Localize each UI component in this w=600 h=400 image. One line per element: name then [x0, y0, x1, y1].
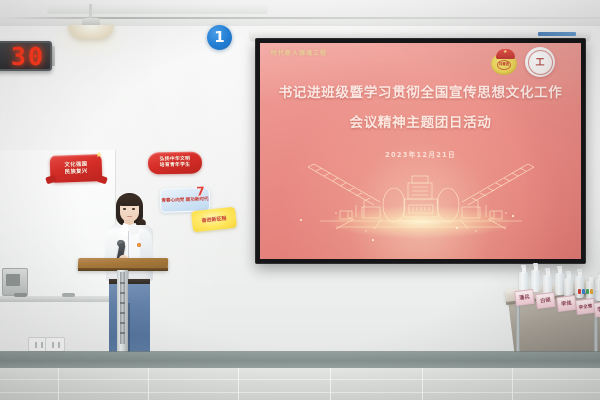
- annotation-badge-1[interactable]: 1: [207, 25, 232, 50]
- decal-anniversary-number: 7: [196, 184, 205, 198]
- water-bottle: [555, 273, 564, 295]
- name-card-text: 李佳: [561, 300, 572, 307]
- projection-screen-frame: 时代新人铸魂工程 ★ 共青团 工 书记进班级暨学习贯彻全国宣传思想文化工作 会议…: [255, 38, 586, 264]
- youth-league-emblem-icon: ★ 共青团: [491, 47, 519, 75]
- slide-date: 2023年12月21日: [260, 149, 581, 159]
- annotation-badge-number: 1: [214, 30, 224, 45]
- housing-brand-label: [538, 32, 576, 36]
- presenter-eye-right: [132, 208, 135, 210]
- water-bottle: [575, 276, 584, 298]
- projection-screen-surface: 时代新人铸魂工程 ★ 共青团 工 书记进班级暨学习贯彻全国宣传思想文化工作 会议…: [260, 43, 581, 259]
- slide-title-block: 书记进班级暨学习贯彻全国宣传思想文化工作 会议精神主题团日活动: [260, 83, 581, 133]
- screen-brand-text: 时代新人铸魂工程: [271, 48, 327, 57]
- whiteboard-marker: [14, 293, 27, 297]
- name-card: 白硕: [535, 292, 556, 309]
- whiteboard-wall-box-inner: [6, 274, 20, 286]
- slide-title-line-1: 书记进班级暨学习贯彻全国宣传思想文化工作: [260, 83, 581, 103]
- name-card: 李佳: [556, 295, 577, 312]
- name-card-text: 潘兵: [519, 294, 530, 301]
- slide-cityscape-artwork: [296, 161, 546, 241]
- name-card-text: 白硕: [540, 297, 551, 304]
- decal-youth-slogan-text: 弘扬中华文明 培育青年学生: [160, 157, 191, 169]
- classroom-photo-scene: 30 文化强国 民族复兴 ★ 弘扬中华文明 培育青年学生 青春心向党 建功新时代…: [0, 0, 600, 400]
- ceiling-beam: [47, 5, 269, 14]
- name-card: 李: [593, 301, 600, 317]
- emblem-right-text: 工: [533, 55, 547, 69]
- presenter-badge-pin: [137, 243, 141, 247]
- baseboard: [0, 352, 600, 368]
- decal-burst-text: 奋进新征程: [201, 215, 227, 224]
- water-bottle: [595, 279, 600, 301]
- whiteboard-marker: [62, 293, 75, 297]
- ceiling-lamp: [68, 20, 114, 38]
- wall-outlet: [45, 337, 65, 352]
- pen-group: [578, 289, 594, 294]
- name-card: 潘兵: [514, 289, 535, 306]
- presenter-hair-front: [118, 195, 141, 206]
- presenter-belt: [109, 279, 150, 284]
- university-seal-icon: 工: [525, 47, 555, 77]
- decal-culture-power-text: 文化强国 民族复兴: [64, 162, 87, 176]
- decal-culture-power: 文化强国 民族复兴 ★: [50, 154, 103, 183]
- floor: [0, 368, 600, 400]
- artwork-glow: [326, 205, 516, 239]
- clock-digits: 30: [11, 44, 45, 69]
- presenter-shirt-placket: [128, 231, 129, 279]
- lamp-shade: [68, 25, 114, 39]
- presenter-eye-left: [123, 208, 126, 210]
- decal-star-icon: ★: [95, 151, 102, 159]
- slide-title-line-2: 会议精神主题团日活动: [260, 113, 581, 133]
- decal-youth-slogan: 弘扬中华文明 培育青年学生: [148, 152, 202, 175]
- name-card-text: 李全营: [578, 303, 592, 311]
- led-wall-clock: 30: [0, 41, 52, 71]
- decal-anniversary: 青春心向党 建功新时代 7: [160, 187, 211, 213]
- emblem-left-text: 共青团: [499, 63, 509, 67]
